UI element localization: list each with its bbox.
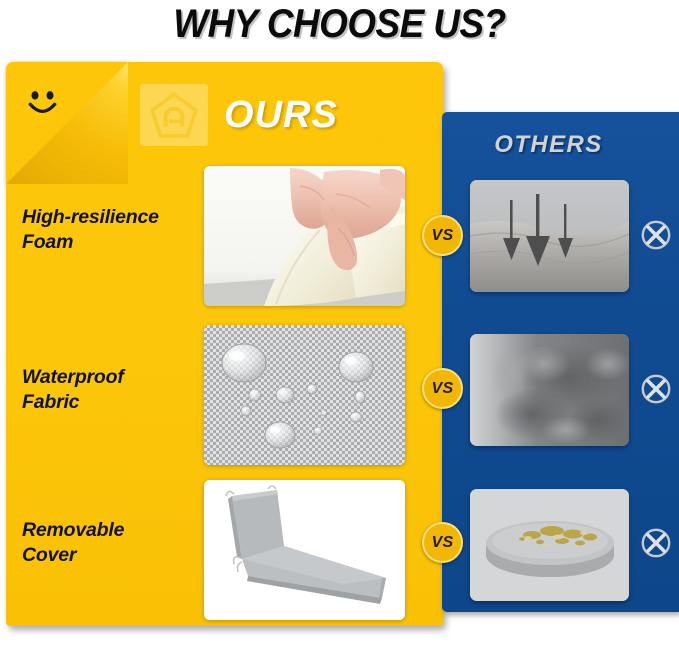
- vs-badge: VS: [422, 522, 463, 563]
- ours-title: OURS: [224, 94, 338, 137]
- hand-pinching-foam-photo: [204, 166, 405, 306]
- feature-label-fabric: WaterproofFabric: [22, 365, 202, 415]
- vs-badge: VS: [422, 215, 463, 256]
- wet-stained-gray-fabric-photo: [470, 334, 629, 446]
- vs-badge: VS: [422, 368, 463, 409]
- home-pentagon-icon: [140, 84, 208, 146]
- water-beads-on-fabric-photo: [204, 325, 405, 465]
- circle-x-icon: [640, 527, 672, 559]
- arrows-pressing-into-sagging-foam-photo: [470, 180, 629, 292]
- feature-label-cover: RemovableCover: [22, 518, 202, 568]
- smiley-face-icon: [19, 78, 66, 125]
- others-title: OTHERS: [442, 131, 655, 159]
- stained-round-cushion-photo: [470, 489, 629, 601]
- feature-label-foam: High-resilienceFoam: [22, 205, 202, 255]
- circle-x-icon: [640, 373, 672, 405]
- page-title: WHY CHOOSE US?: [27, 2, 652, 47]
- ours-header: OURS: [140, 80, 440, 150]
- circle-x-icon: [640, 219, 672, 251]
- gray-chaise-lounge-cushion-photo: [204, 480, 405, 620]
